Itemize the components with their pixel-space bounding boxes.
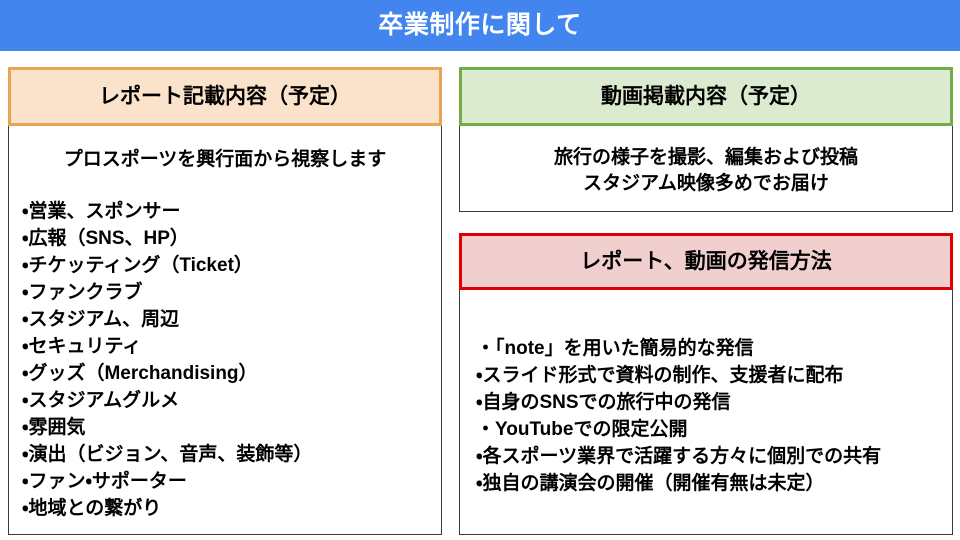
list-item: ・チケッティング（Ticket） bbox=[22, 252, 442, 279]
list-item: ・スタジアム、周辺 bbox=[22, 306, 442, 333]
distribution-panel-header: レポート、動画の発信方法 bbox=[459, 233, 953, 290]
list-item: ・各スポーツ業界で活躍する方々に個別での共有 bbox=[476, 443, 956, 470]
video-panel-header-label: 動画掲載内容（予定） bbox=[601, 86, 811, 107]
list-item: ・独自の講演会の開催（開催有無は未定） bbox=[476, 470, 956, 497]
list-item: ・地域との繋がり bbox=[22, 495, 442, 522]
video-lead-line-1: 旅行の様子を撮影、編集および投稿 bbox=[459, 145, 953, 171]
list-item: ・雰囲気 bbox=[22, 414, 442, 441]
video-panel-header: 動画掲載内容（予定） bbox=[459, 67, 953, 126]
list-item: ・グッズ（Merchandising） bbox=[22, 360, 442, 387]
report-lead-text: プロスポーツを興行面から視察します bbox=[8, 148, 442, 172]
list-item: ・ファン・サポーター bbox=[22, 468, 442, 495]
page-title: 卒業制作に関して bbox=[378, 13, 581, 38]
list-item: ・セキュリティ bbox=[22, 333, 442, 360]
report-panel-header-label: レポート記載内容（予定） bbox=[99, 86, 351, 107]
list-item: ・自身のSNSでの旅行中の発信 bbox=[476, 389, 956, 416]
report-panel-header: レポート記載内容（予定） bbox=[8, 67, 442, 126]
distribution-panel-header-label: レポート、動画の発信方法 bbox=[580, 251, 832, 272]
report-bullet-list: ・営業、スポンサー ・広報（SNS、HP） ・チケッティング（Ticket） ・… bbox=[22, 198, 442, 522]
list-item: ・「note」を用いた簡易的な発信 bbox=[476, 335, 956, 362]
list-item: ・広報（SNS、HP） bbox=[22, 225, 442, 252]
list-item: ・演出（ビジョン、音声、装飾等） bbox=[22, 441, 442, 468]
video-lead-text: 旅行の様子を撮影、編集および投稿 スタジアム映像多めでお届け bbox=[459, 145, 953, 196]
list-item: ・YouTubeでの限定公開 bbox=[476, 416, 956, 443]
list-item: ・営業、スポンサー bbox=[22, 198, 442, 225]
list-item: ・スライド形式で資料の制作、支援者に配布 bbox=[476, 362, 956, 389]
list-item: ・スタジアムグルメ bbox=[22, 387, 442, 414]
slide-title-bar: 卒業制作に関して bbox=[0, 0, 960, 51]
video-lead-line-2: スタジアム映像多めでお届け bbox=[459, 171, 953, 197]
distribution-bullet-list: ・「note」を用いた簡易的な発信 ・スライド形式で資料の制作、支援者に配布 ・… bbox=[476, 335, 956, 497]
list-item: ・ファンクラブ bbox=[22, 279, 442, 306]
